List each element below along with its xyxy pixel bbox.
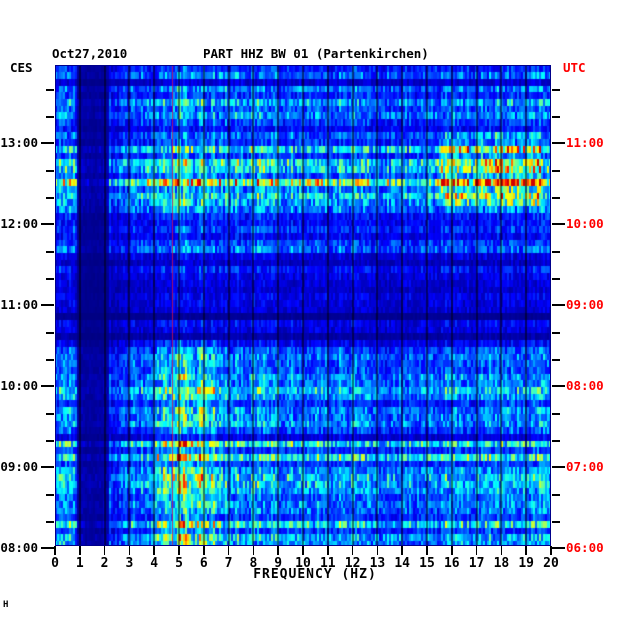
- right-axis-tick-label: 09:00: [566, 297, 604, 312]
- right-axis-major-tick: [552, 547, 565, 549]
- spectrogram-plot[interactable]: [55, 65, 551, 546]
- left-axis-tick-label: 13:00: [0, 135, 38, 150]
- right-axis-minor-tick: [552, 440, 560, 442]
- left-axis-minor-tick: [46, 278, 54, 280]
- x-axis-tick: [550, 546, 552, 555]
- left-axis-major-tick: [41, 304, 54, 306]
- right-axis-minor-tick: [552, 521, 560, 523]
- right-axis-tick-label: 11:00: [566, 135, 604, 150]
- left-axis-tick-label: 10:00: [0, 378, 38, 393]
- left-axis-major-tick: [41, 223, 54, 225]
- title-date: Oct27,2010: [52, 46, 127, 61]
- right-axis-tick-label: 06:00: [566, 540, 604, 555]
- x-axis-tick: [104, 546, 106, 555]
- title-station: PART HHZ BW 01 (Partenkirchen): [203, 46, 429, 61]
- left-axis-minor-tick: [46, 494, 54, 496]
- left-axis-minor-tick: [46, 413, 54, 415]
- left-axis-zone-label: CES: [10, 60, 33, 75]
- left-axis-minor-tick: [46, 116, 54, 118]
- corner-text-fragment: H: [3, 600, 8, 610]
- left-axis-major-tick: [41, 466, 54, 468]
- x-axis-tick: [401, 546, 403, 555]
- x-axis-tick: [253, 546, 255, 555]
- x-axis-title: FREQUENCY (HZ): [0, 567, 630, 582]
- left-axis-minor-tick: [46, 440, 54, 442]
- spectrogram-canvas[interactable]: [55, 65, 551, 546]
- x-axis-tick: [153, 546, 155, 555]
- left-axis-tick-label: 09:00: [0, 459, 38, 474]
- left-axis-minor-tick: [46, 89, 54, 91]
- left-axis-minor-tick: [46, 332, 54, 334]
- right-axis-minor-tick: [552, 251, 560, 253]
- x-axis-tick: [451, 546, 453, 555]
- right-axis-major-tick: [552, 385, 565, 387]
- left-axis-major-tick: [41, 142, 54, 144]
- x-axis-tick: [476, 546, 478, 555]
- left-axis-minor-tick: [46, 170, 54, 172]
- right-axis-minor-tick: [552, 116, 560, 118]
- x-axis-tick: [426, 546, 428, 555]
- right-axis-major-tick: [552, 304, 565, 306]
- spectrogram-page: Oct27,2010 PART HHZ BW 01 (Partenkirchen…: [0, 0, 630, 624]
- right-axis-minor-tick: [552, 359, 560, 361]
- x-axis-tick: [54, 546, 56, 555]
- left-axis-minor-tick: [46, 251, 54, 253]
- right-axis-tick-label: 08:00: [566, 378, 604, 393]
- x-axis-tick: [203, 546, 205, 555]
- left-axis-tick-label: 08:00: [0, 540, 38, 555]
- x-axis-tick: [352, 546, 354, 555]
- x-axis-tick: [277, 546, 279, 555]
- right-axis-minor-tick: [552, 197, 560, 199]
- right-axis-tick-label: 10:00: [566, 216, 604, 231]
- left-axis-minor-tick: [46, 521, 54, 523]
- x-axis-tick: [501, 546, 503, 555]
- left-axis-tick-label: 12:00: [0, 216, 38, 231]
- right-axis-major-tick: [552, 223, 565, 225]
- right-axis-minor-tick: [552, 89, 560, 91]
- right-axis-minor-tick: [552, 332, 560, 334]
- right-axis-minor-tick: [552, 170, 560, 172]
- left-axis-minor-tick: [46, 359, 54, 361]
- x-axis-tick: [79, 546, 81, 555]
- right-axis-zone-label: UTC: [563, 60, 586, 75]
- x-axis-tick: [129, 546, 131, 555]
- right-axis-minor-tick: [552, 413, 560, 415]
- right-axis-minor-tick: [552, 494, 560, 496]
- right-axis-tick-label: 07:00: [566, 459, 604, 474]
- x-axis-tick: [302, 546, 304, 555]
- right-axis-major-tick: [552, 466, 565, 468]
- x-axis-tick: [525, 546, 527, 555]
- left-axis-tick-label: 11:00: [0, 297, 38, 312]
- x-axis-tick: [178, 546, 180, 555]
- left-axis-major-tick: [41, 547, 54, 549]
- left-axis-minor-tick: [46, 197, 54, 199]
- x-axis-tick: [327, 546, 329, 555]
- right-axis-major-tick: [552, 142, 565, 144]
- left-axis-major-tick: [41, 385, 54, 387]
- right-axis-minor-tick: [552, 278, 560, 280]
- x-axis-tick: [228, 546, 230, 555]
- x-axis-tick: [377, 546, 379, 555]
